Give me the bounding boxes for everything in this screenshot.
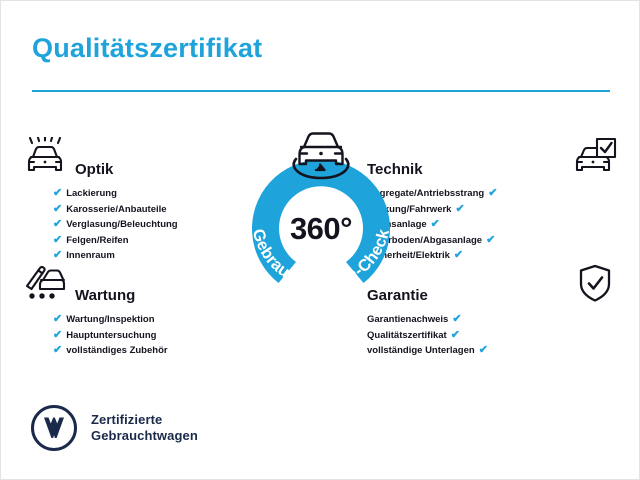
title-divider — [32, 90, 610, 92]
certificate-page: Qualitätszertifikat Optik — [0, 0, 640, 480]
list-item: ✔ vollständiges Zubehör — [23, 343, 273, 359]
check-icon: ✔ — [53, 250, 62, 261]
footer-brand: Zertifizierte Gebrauchtwagen — [31, 405, 198, 451]
check-icon: ✔ — [455, 204, 464, 215]
list-item-label: Qualitätszertifikat — [367, 328, 447, 344]
check-icon: ✔ — [53, 188, 62, 199]
check-icon: ✔ — [53, 345, 62, 356]
check-icon: ✔ — [486, 235, 495, 246]
list-item: ✔ Hauptuntersuchung — [23, 328, 273, 344]
list-item: ✔ Qualitätszertifikat — [367, 328, 617, 344]
check-icon: ✔ — [53, 219, 62, 230]
footer-text: Zertifizierte Gebrauchtwagen — [91, 412, 198, 444]
list-item: ✔ Garantienachweis — [367, 312, 617, 328]
list-item-label: Garantienachweis — [367, 312, 448, 328]
list-item-label: Wartung/Inspektion — [66, 312, 154, 328]
check-icon: ✔ — [53, 204, 62, 215]
check-icon: ✔ — [488, 188, 497, 199]
check-icon: ✔ — [53, 330, 62, 341]
list-item-label: Felgen/Reifen — [66, 233, 128, 249]
section-title-wartung: Wartung — [75, 287, 135, 307]
list-item-label: vollständiges Zubehör — [66, 343, 167, 359]
list-item-label: Verglasung/Beleuchtung — [66, 217, 177, 233]
car-checkbox-icon — [573, 137, 617, 179]
badge-degrees: 360° — [230, 211, 412, 247]
list-item-label: Lackierung — [66, 186, 117, 202]
list-item-label: Karosserie/Anbauteile — [66, 202, 166, 218]
list-item: ✔ Wartung/Inspektion — [23, 312, 273, 328]
checklist-garantie: ✔ Garantienachweis ✔ Qualitätszertifikat… — [367, 312, 617, 359]
footer-line-2: Gebrauchtwagen — [91, 428, 198, 444]
volkswagen-logo — [31, 405, 77, 451]
check-icon: ✔ — [479, 345, 488, 356]
section-title-optik: Optik — [75, 161, 113, 181]
footer-line-1: Zertifizierte — [91, 412, 198, 428]
360-check-badge: Gebrauchtwagen-Check 360° — [230, 123, 412, 305]
car-service-pen-icon — [23, 263, 67, 305]
page-title: Qualitätszertifikat — [32, 33, 262, 64]
check-icon: ✔ — [53, 235, 62, 246]
check-icon: ✔ — [431, 219, 440, 230]
list-item-label: vollständige Unterlagen — [367, 343, 475, 359]
check-icon: ✔ — [53, 314, 62, 325]
list-item-label: Hauptuntersuchung — [66, 328, 156, 344]
check-icon: ✔ — [452, 314, 461, 325]
checklist-wartung: ✔ Wartung/Inspektion ✔ Hauptuntersuchung… — [23, 312, 273, 359]
check-icon: ✔ — [454, 250, 463, 261]
shield-check-icon — [573, 263, 617, 305]
check-icon: ✔ — [451, 330, 460, 341]
car-rotate-icon — [283, 125, 359, 185]
car-shine-icon — [23, 137, 67, 179]
list-item: ✔ vollständige Unterlagen — [367, 343, 617, 359]
